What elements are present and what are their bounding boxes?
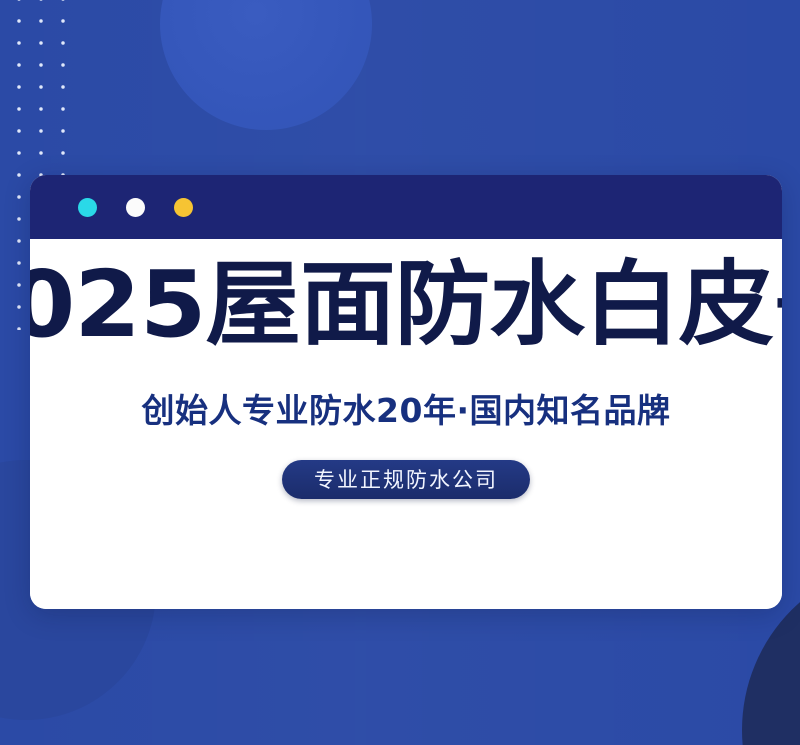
poster-canvas: 2025屋面防水白皮书 创始人专业防水20年·国内知名品牌 专业正规防水公司 <box>0 0 800 745</box>
card-content: 2025屋面防水白皮书 创始人专业防水20年·国内知名品牌 专业正规防水公司 <box>30 239 782 609</box>
window-dot-white-icon[interactable] <box>126 198 145 217</box>
page-title: 2025屋面防水白皮书 <box>30 257 782 354</box>
window-dot-yellow-icon[interactable] <box>174 198 193 217</box>
status-badge[interactable]: 专业正规防水公司 <box>282 460 530 499</box>
browser-window-card: 2025屋面防水白皮书 创始人专业防水20年·国内知名品牌 专业正规防水公司 <box>30 175 782 609</box>
window-dot-cyan-icon[interactable] <box>78 198 97 217</box>
window-titlebar <box>30 175 782 239</box>
page-subtitle: 创始人专业防水20年·国内知名品牌 <box>142 384 671 432</box>
